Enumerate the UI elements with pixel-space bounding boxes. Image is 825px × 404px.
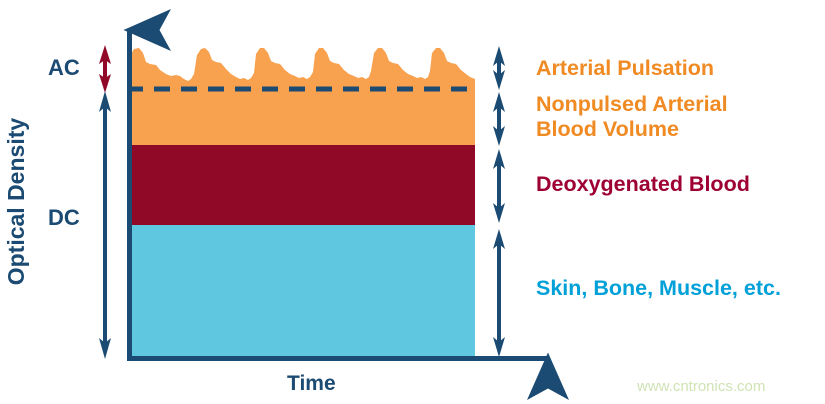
ac-label: AC [48,55,80,81]
bracket-skin-bone-muscle [493,229,505,357]
layer-skin-bone-muscle [127,225,475,358]
x-axis-title: Time [287,372,336,397]
watermark: www.cntronics.com [637,378,765,396]
y-axis-title: Optical Density [0,0,34,404]
legend-nonpulsed-arterial-blood-volume: Nonpulsed Arterial Blood Volume [536,92,728,143]
bracket-arterial-pulsation [493,46,505,90]
dc-label: DC [48,205,80,231]
layer-deoxygenated-blood [127,145,475,225]
legend-nonpulsed-line1: Nonpulsed Arterial [536,92,728,117]
legend-skin-bone-muscle: Skin, Bone, Muscle, etc. [536,276,781,301]
optical-density-figure: Optical Density AC DC Time Arterial Puls… [0,0,825,404]
dc-bracket-arrow [99,91,111,359]
bracket-deoxygenated-blood [493,149,505,223]
ac-bracket-arrow [99,45,111,93]
legend-nonpulsed-line2: Blood Volume [536,117,728,142]
y-axis-title-text: Optical Density [3,118,30,285]
bracket-nonpulsed-arterial [493,92,505,146]
layer-nonpulsed-arterial [127,88,475,145]
legend-deoxygenated-blood: Deoxygenated Blood [536,172,750,197]
legend-arterial-pulsation: Arterial Pulsation [536,56,714,81]
ppg-pulse-waveform [127,48,475,90]
